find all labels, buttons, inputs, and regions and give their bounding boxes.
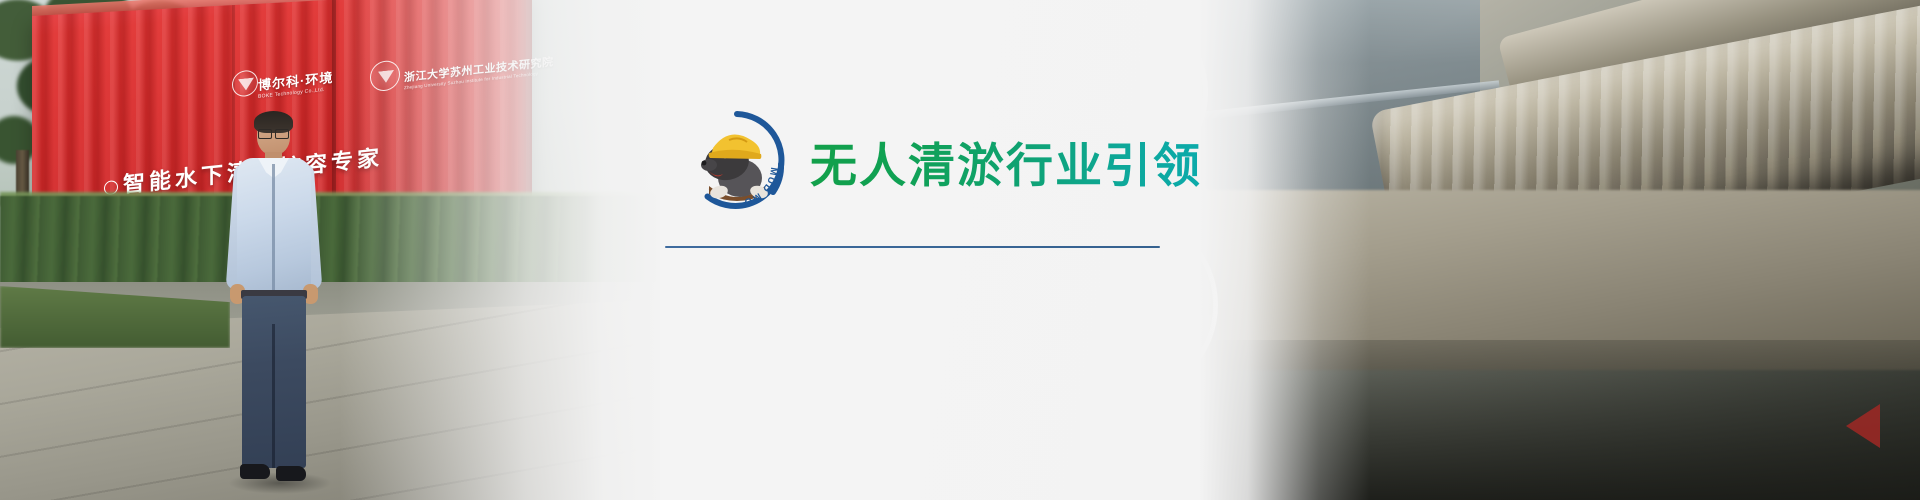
- person-right-shoe: [276, 466, 306, 481]
- mud-mole-logo: MUD MOLE: [685, 108, 789, 212]
- headline-divider: [665, 246, 1160, 248]
- left-photo-fade-mask: [340, 0, 660, 500]
- headline: 无人清淤行业引领者: [810, 139, 1251, 195]
- person-standing: [228, 108, 320, 500]
- right-photo-group: [1200, 0, 1920, 500]
- eyeglasses-icon: [258, 129, 289, 137]
- person-left-shoe: [240, 464, 270, 479]
- person-shirt-placket: [272, 164, 275, 290]
- hero-banner: 博尔科·环境 BOKE Technology Co.,Ltd. 浙江大学苏州工业…: [0, 0, 1920, 500]
- left-photo: 博尔科·环境 BOKE Technology Co.,Ltd. 浙江大学苏州工业…: [0, 0, 660, 500]
- decorative-arrow-icon: [1846, 404, 1880, 448]
- mud-mole-logo-icon: MUD MOLE: [685, 108, 789, 212]
- center-content: MUD MOLE 无人清淤行业引领者: [660, 0, 1200, 500]
- right-photo-fade-mask: [1200, 0, 1370, 500]
- person-pants: [242, 296, 306, 468]
